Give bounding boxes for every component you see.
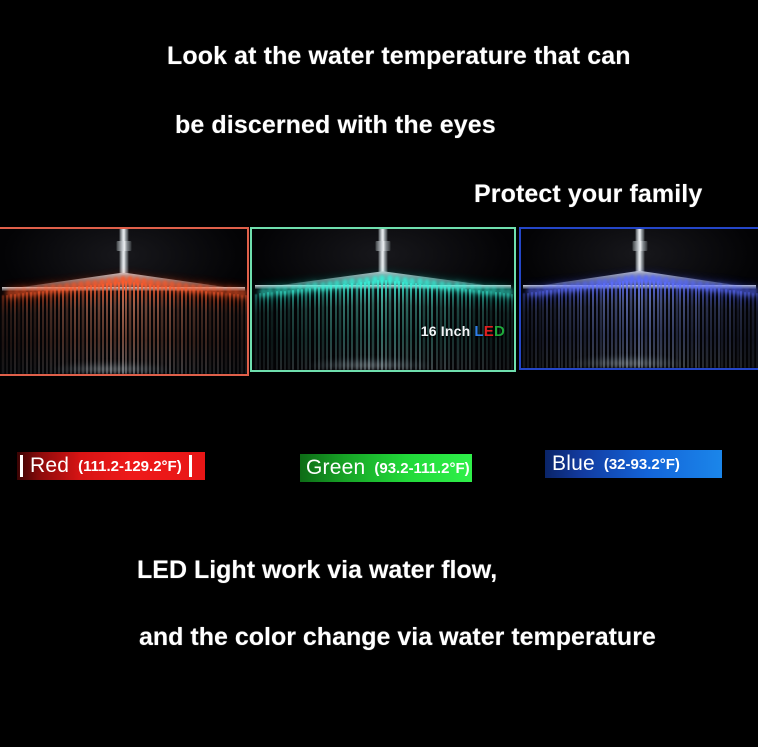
shower-photo-strip: 16 InchLED — [0, 227, 758, 377]
size-badge: 16 InchLED — [421, 323, 505, 340]
shower-arm-icon — [635, 229, 644, 273]
size-badge-label: 16 Inch — [421, 323, 471, 339]
headline-line-3: Protect your family — [474, 180, 702, 209]
footer-line-2: and the color change via water temperatu… — [139, 623, 656, 652]
green-shower-panel: 16 InchLED — [250, 227, 516, 372]
led-letter-e: E — [484, 323, 494, 340]
temperature-chip-blue: Blue (32-93.2°F) — [545, 450, 722, 478]
led-acronym: LED — [474, 323, 505, 340]
chip-temperature-range: (32-93.2°F) — [604, 456, 680, 473]
chip-color-name: Red — [30, 454, 69, 478]
water-stream-field — [523, 279, 755, 368]
chip-color-name: Blue — [552, 452, 595, 476]
led-letter-l: L — [474, 323, 483, 340]
chip-color-name: Green — [306, 456, 365, 480]
chip-cap-left — [20, 455, 23, 477]
headline-line-2: be discerned with the eyes — [175, 111, 496, 140]
water-stream-field — [2, 281, 244, 374]
shower-arm-icon — [119, 229, 128, 275]
chip-temperature-range: (111.2-129.2°F) — [78, 458, 182, 475]
footer-line-1: LED Light work via water flow, — [137, 556, 497, 585]
chip-temperature-range: (93.2-111.2°F) — [374, 460, 469, 477]
red-shower-panel — [0, 227, 249, 376]
blue-shower-panel — [519, 227, 758, 370]
green-shower-photo: 16 InchLED — [252, 229, 514, 370]
poster-canvas: Look at the water temperature that can b… — [0, 0, 758, 747]
blue-shower-photo — [521, 229, 758, 368]
shower-arm-icon — [379, 229, 388, 274]
temperature-chip-red: Red (111.2-129.2°F) — [17, 452, 205, 480]
led-letter-d: D — [494, 323, 505, 340]
chip-cap-right — [189, 455, 192, 477]
water-splash — [573, 356, 682, 366]
temperature-chip-green: Green (93.2-111.2°F) — [300, 454, 472, 482]
headline-line-1: Look at the water temperature that can — [167, 42, 631, 71]
water-splash — [54, 362, 168, 372]
water-splash — [310, 358, 431, 368]
red-shower-photo — [0, 229, 247, 374]
